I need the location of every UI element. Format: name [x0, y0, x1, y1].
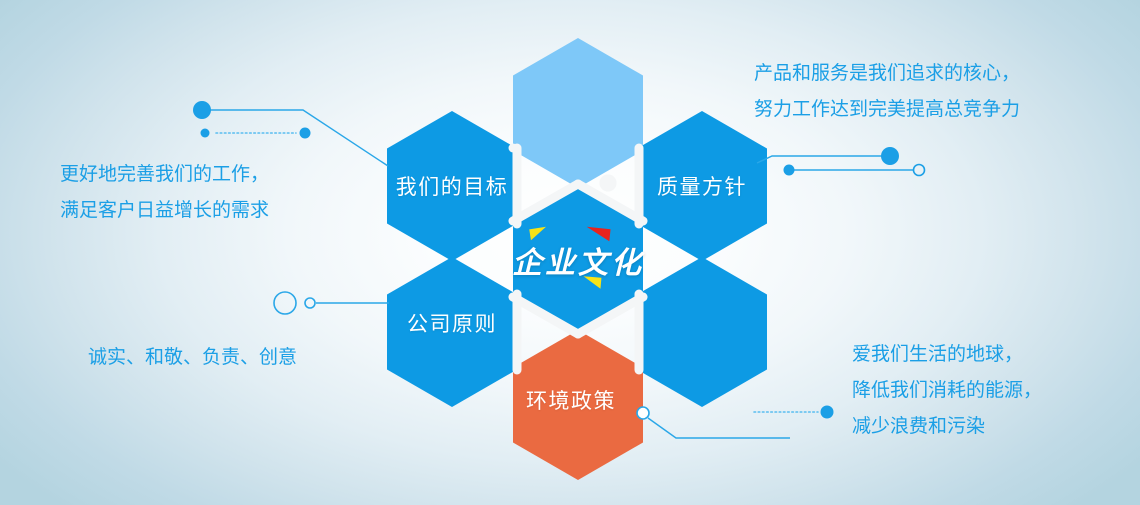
connector-dot-goals-small-left[interactable] — [201, 129, 210, 138]
connector-dot-environment[interactable] — [821, 406, 834, 419]
infographic-canvas: 我们的目标 质量方针 公司原则 环境政策 企业文化 — [0, 0, 1140, 505]
caption-principles-line-1: 诚实、和敬、负责、创意 — [88, 340, 297, 376]
connector-quality-secondary — [784, 165, 925, 176]
connector-dot-quality[interactable] — [881, 147, 899, 165]
caption-quality: 产品和服务是我们追求的核心， 努力工作达到完美提高总竞争力 — [754, 56, 1020, 128]
caption-environment-line-1: 爱我们生活的地球， — [852, 337, 1042, 373]
connector-circle-quality-hollow[interactable] — [914, 165, 925, 176]
caption-goals-line-1: 更好地完善我们的工作， — [60, 157, 269, 193]
caption-environment: 爱我们生活的地球， 降低我们消耗的能源， 减少浪费和污染 — [852, 337, 1042, 445]
caption-goals: 更好地完善我们的工作， 满足客户日益增长的需求 — [60, 157, 269, 229]
caption-goals-line-2: 满足客户日益增长的需求 — [60, 193, 269, 229]
connector-goals-dotted — [201, 128, 311, 139]
connector-environment-dotted — [754, 406, 834, 419]
caption-quality-line-1: 产品和服务是我们追求的核心， — [754, 56, 1020, 92]
connector-dot-goals-small-right[interactable] — [300, 128, 311, 139]
caption-environment-line-2: 降低我们消耗的能源， — [852, 373, 1042, 409]
caption-environment-line-3: 减少浪费和污染 — [852, 409, 1042, 445]
connector-circle-environment-hollow[interactable] — [637, 407, 649, 419]
connector-principles — [274, 292, 389, 314]
connector-circle-principles-small[interactable] — [305, 298, 315, 308]
connector-circle-principles-large[interactable] — [274, 292, 296, 314]
caption-principles: 诚实、和敬、负责、创意 — [88, 340, 297, 376]
connector-dot-goals[interactable] — [193, 101, 211, 119]
connector-dot-quality-left[interactable] — [784, 165, 795, 176]
caption-quality-line-2: 努力工作达到完美提高总竞争力 — [754, 92, 1020, 128]
connector-quality — [757, 147, 899, 165]
